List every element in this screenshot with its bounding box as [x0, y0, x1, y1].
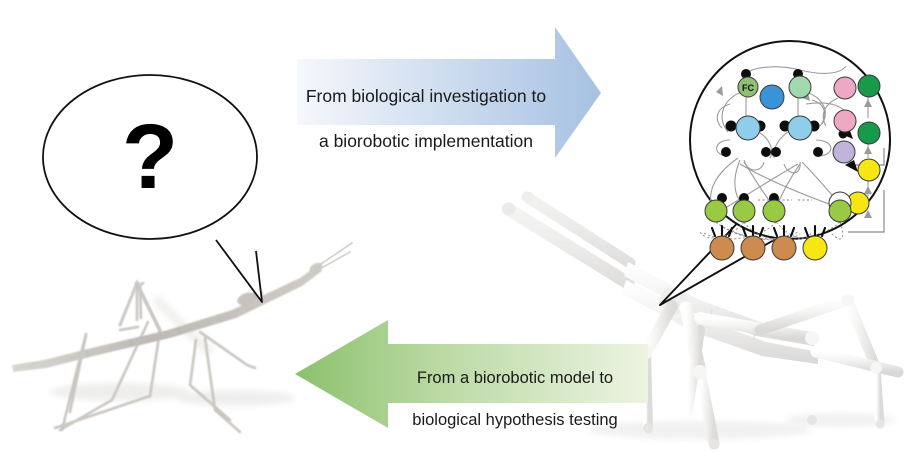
backward-arrow[interactable] [0, 0, 912, 453]
figure-canvas: ? [0, 0, 912, 453]
backward-arrow-shape[interactable] [295, 320, 648, 428]
